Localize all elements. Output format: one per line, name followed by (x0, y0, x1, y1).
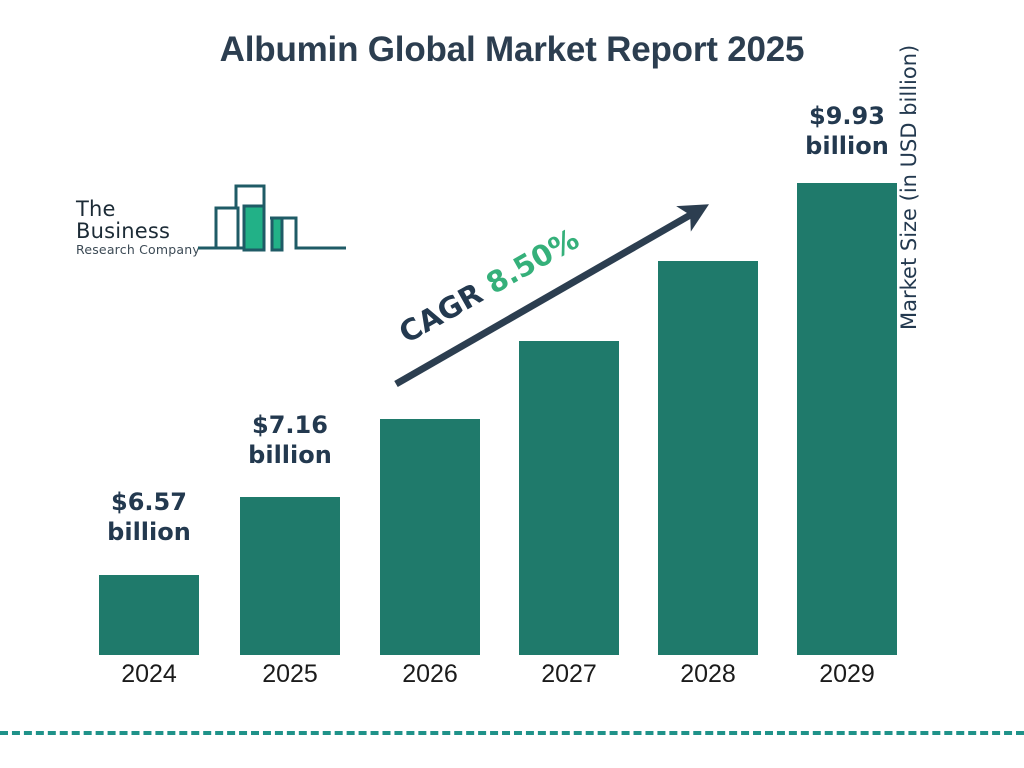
bar-2028 (658, 261, 758, 655)
bar-chart-logo-mark (196, 178, 366, 263)
page-title: Albumin Global Market Report 2025 (0, 30, 1024, 70)
x-tick-2024: 2024 (99, 660, 199, 689)
bottom-divider (0, 731, 1024, 735)
bar-value-2029-amount: $9.93 (777, 101, 917, 131)
y-axis-label: Market Size (in USD billion) (897, 0, 921, 330)
logo-line-2: Research Company (76, 243, 206, 257)
bar-value-2024-unit: billion (79, 517, 219, 547)
bar-value-2024: $6.57 billion (79, 487, 219, 547)
x-tick-2027: 2027 (519, 660, 619, 689)
bar-2029 (797, 183, 897, 655)
x-tick-2025: 2025 (240, 660, 340, 689)
bar-2025 (240, 497, 340, 655)
company-logo: The Business Research Company (76, 178, 286, 258)
x-tick-2028: 2028 (658, 660, 758, 689)
x-tick-2026: 2026 (380, 660, 480, 689)
bar-2024 (99, 575, 199, 655)
x-tick-2029: 2029 (797, 660, 897, 689)
cagr-annotation: CAGR 8.50% (393, 222, 584, 350)
bar-value-2025-amount: $7.16 (220, 410, 360, 440)
bar-value-2024-amount: $6.57 (79, 487, 219, 517)
logo-text: The Business Research Company (76, 198, 206, 257)
bar-value-2025: $7.16 billion (220, 410, 360, 470)
cagr-value: 8.50% (480, 222, 584, 301)
cagr-word: CAGR (393, 276, 488, 350)
chart-canvas: Albumin Global Market Report 2025 The Bu… (0, 0, 1024, 768)
logo-line-1: The Business (76, 198, 206, 242)
bar-value-2025-unit: billion (220, 440, 360, 470)
bar-value-2029-unit: billion (777, 131, 917, 161)
bar-2027 (519, 341, 619, 655)
bar-value-2029: $9.93 billion (777, 101, 917, 161)
bar-2026 (380, 419, 480, 655)
